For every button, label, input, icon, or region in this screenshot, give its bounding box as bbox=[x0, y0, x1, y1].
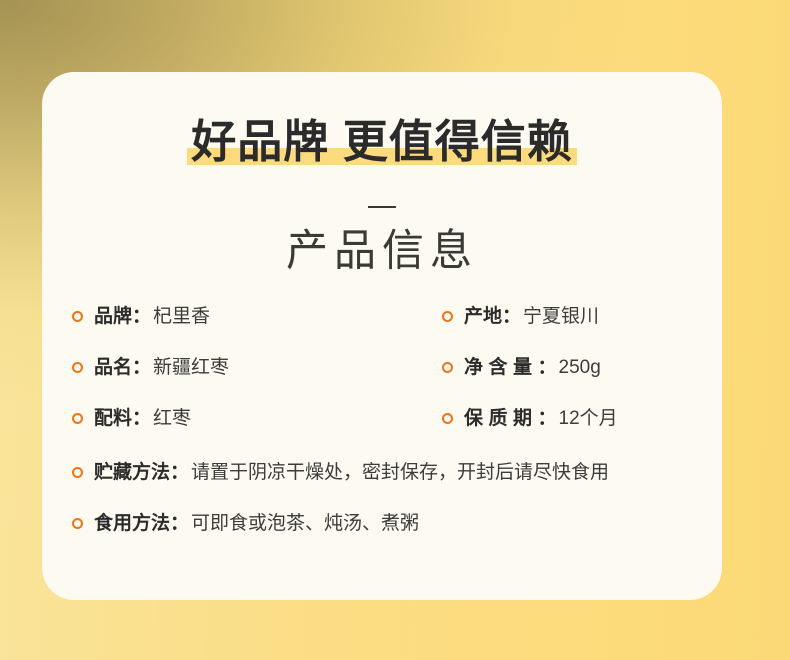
info-value: 杞里香 bbox=[153, 304, 210, 330]
info-value: 可即食或泡茶、炖汤、煮粥 bbox=[191, 511, 419, 537]
info-label: 净含量： bbox=[464, 355, 557, 381]
info-row-origin: 产地： 宁夏银川 bbox=[442, 304, 722, 355]
info-label: 产地： bbox=[464, 304, 521, 330]
info-label-text: 品牌 bbox=[94, 306, 132, 327]
info-label: 食用方法： bbox=[94, 511, 189, 537]
info-row-brand: 品牌： 杞里香 bbox=[72, 304, 392, 355]
info-value: 请置于阴凉干燥处，密封保存，开封后请尽快食用 bbox=[191, 460, 609, 486]
info-row-net-weight: 净含量： 250g bbox=[442, 355, 722, 406]
info-label: 配料： bbox=[94, 406, 151, 432]
headline-container: 好品牌 更值得信赖 bbox=[42, 114, 722, 172]
info-column-left: 品牌： 杞里香 品名： 新疆红枣 配料： 红枣 bbox=[72, 304, 392, 457]
info-row-usage: 食用方法： 可即食或泡茶、炖汤、煮粥 bbox=[72, 511, 722, 562]
info-value: 250g bbox=[559, 355, 601, 381]
info-label-colon: ： bbox=[502, 306, 521, 327]
info-row-product-name: 品名： 新疆红枣 bbox=[72, 355, 392, 406]
bullet-ring-icon bbox=[72, 362, 83, 373]
info-column-right: 产地： 宁夏银川 净含量： 250g 保质期： 12个月 bbox=[442, 304, 722, 457]
info-label-colon: ： bbox=[170, 513, 189, 534]
info-label-colon: ： bbox=[132, 306, 151, 327]
info-value: 宁夏银川 bbox=[523, 304, 599, 330]
bullet-ring-icon bbox=[72, 467, 83, 478]
bullet-ring-icon bbox=[442, 413, 453, 424]
bullet-ring-icon bbox=[442, 311, 453, 322]
bullet-ring-icon bbox=[72, 413, 83, 424]
info-label-colon: ： bbox=[170, 462, 189, 483]
info-label: 品名： bbox=[94, 355, 151, 381]
info-value: 12个月 bbox=[559, 406, 618, 432]
info-label-colon: ： bbox=[132, 357, 151, 378]
info-label-text: 配料 bbox=[94, 408, 132, 429]
info-label-colon: ： bbox=[538, 357, 557, 378]
product-info-card: 好品牌 更值得信赖 产品信息 品牌： 杞里香 品名： 新疆红枣 bbox=[42, 72, 722, 600]
info-row-storage: 贮藏方法： 请置于阴凉干燥处，密封保存，开封后请尽快食用 bbox=[72, 460, 722, 511]
info-two-column-grid: 品牌： 杞里香 品名： 新疆红枣 配料： 红枣 bbox=[42, 304, 722, 458]
info-label-text: 食用方法 bbox=[94, 513, 170, 534]
info-value: 红枣 bbox=[153, 406, 191, 432]
info-label-colon: ： bbox=[132, 408, 151, 429]
info-area: 品牌： 杞里香 品名： 新疆红枣 配料： 红枣 bbox=[42, 304, 722, 562]
headline-inner: 好品牌 更值得信赖 bbox=[187, 114, 577, 170]
info-label-text: 产地 bbox=[464, 306, 502, 327]
info-label: 品牌： bbox=[94, 304, 151, 330]
info-label-text: 品名 bbox=[94, 357, 132, 378]
bullet-ring-icon bbox=[72, 311, 83, 322]
info-label: 贮藏方法： bbox=[94, 460, 189, 486]
info-label-text: 贮藏方法 bbox=[94, 462, 170, 483]
page-title: 好品牌 更值得信赖 bbox=[191, 114, 573, 170]
bullet-ring-icon bbox=[72, 518, 83, 529]
section-subtitle: 产品信息 bbox=[42, 223, 722, 279]
product-info-page: 好品牌 更值得信赖 产品信息 品牌： 杞里香 品名： 新疆红枣 bbox=[0, 0, 790, 660]
info-label-text: 净含量 bbox=[464, 357, 538, 378]
bullet-ring-icon bbox=[442, 362, 453, 373]
info-row-ingredients: 配料： 红枣 bbox=[72, 406, 392, 457]
info-full-width-rows: 贮藏方法： 请置于阴凉干燥处，密封保存，开封后请尽快食用 食用方法： 可即食或泡… bbox=[42, 460, 722, 562]
info-value: 新疆红枣 bbox=[153, 355, 229, 381]
info-label-colon: ： bbox=[538, 408, 557, 429]
info-label-text: 保质期 bbox=[464, 408, 538, 429]
info-label: 保质期： bbox=[464, 406, 557, 432]
info-row-shelf-life: 保质期： 12个月 bbox=[442, 406, 722, 457]
divider-dash bbox=[368, 206, 396, 208]
